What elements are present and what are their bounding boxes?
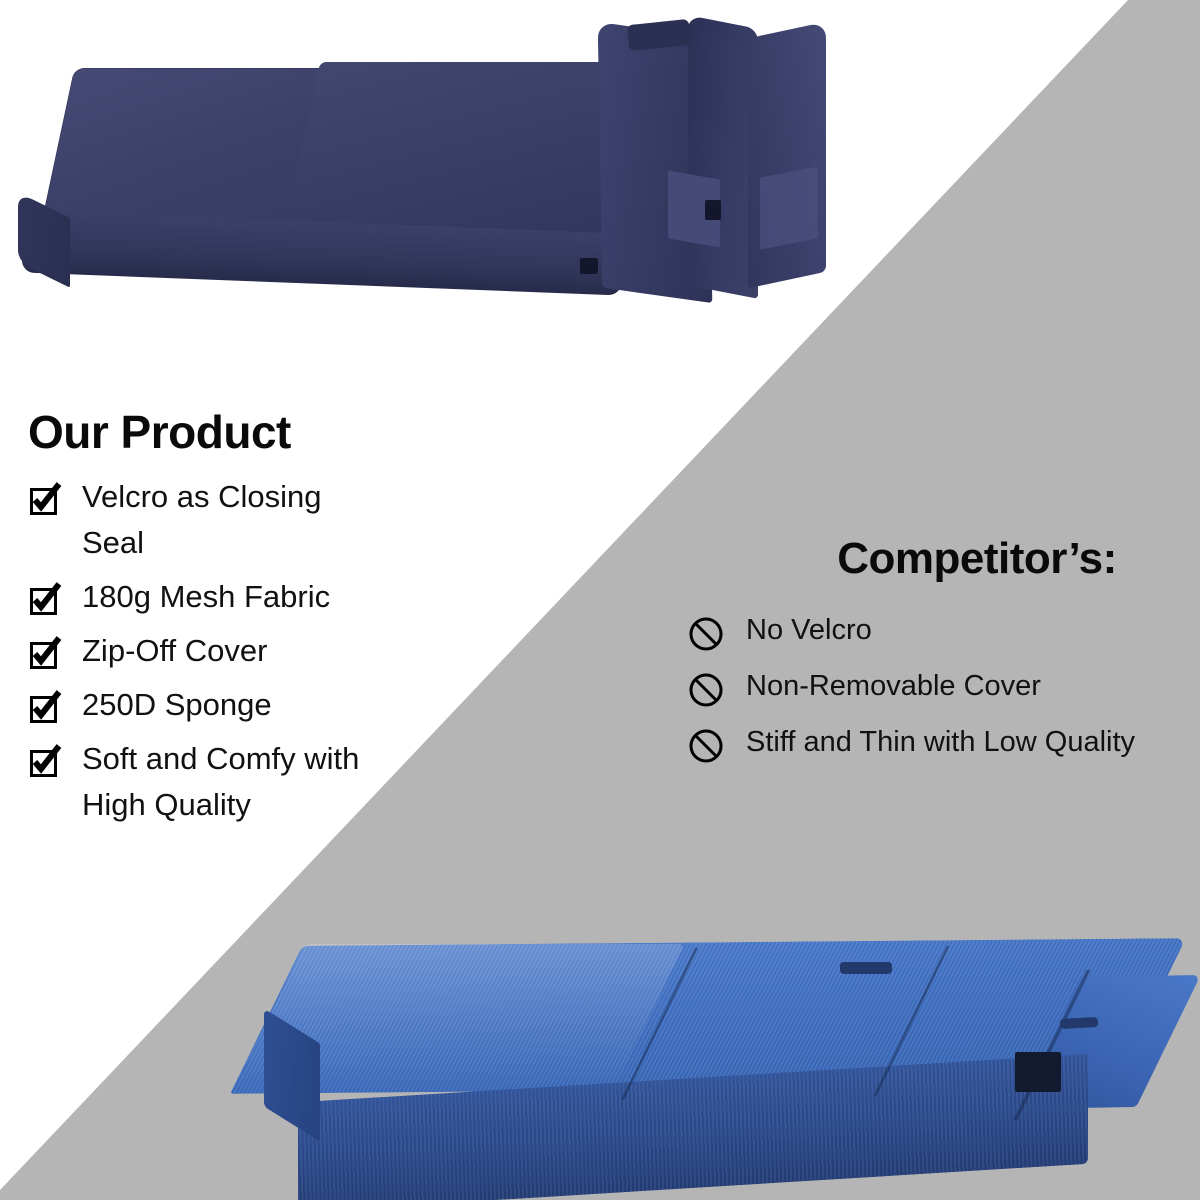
navy-trifold-mattress-photo: [0, 0, 900, 330]
prohibition-icon: [688, 616, 724, 652]
list-item-label: 180g Mesh Fabric: [82, 574, 330, 620]
velcro-patch: [760, 166, 818, 249]
our-product-heading: Our Product: [28, 408, 448, 456]
carry-handle: [840, 962, 892, 974]
checkbox-checked-icon: [28, 744, 62, 778]
list-item-label: 250D Sponge: [82, 682, 272, 728]
list-item: Zip-Off Cover: [28, 628, 448, 674]
checkbox-checked-icon: [28, 636, 62, 670]
our-product-section: Our Product Velcro as Closing Seal: [28, 408, 448, 835]
prohibition-icon: [688, 728, 724, 764]
list-item-label: No Velcro: [746, 608, 872, 652]
checkbox-checked-icon: [28, 582, 62, 616]
prohibition-icon: [688, 672, 724, 708]
list-item-label: Stiff and Thin with Low Quality: [746, 720, 1135, 764]
checkbox-checked-icon: [28, 690, 62, 724]
infographic-canvas: Our Product Velcro as Closing Seal: [0, 0, 1200, 1200]
our-product-feature-list: Velcro as Closing Seal 180g Mesh Fabric: [28, 474, 448, 827]
carry-handle: [1060, 1017, 1098, 1029]
checkbox-checked-icon: [28, 482, 62, 516]
competitors-section: Competitor’s: No Velcro: [688, 536, 1188, 776]
list-item-label: Velcro as Closing Seal: [82, 474, 382, 566]
list-item: Velcro as Closing Seal: [28, 474, 448, 566]
list-item: Stiff and Thin with Low Quality: [688, 720, 1188, 764]
list-item: 250D Sponge: [28, 682, 448, 728]
competitors-heading: Competitor’s:: [688, 536, 1188, 582]
competitors-feature-list: No Velcro Non-Removable Cover: [688, 608, 1188, 764]
list-item: Soft and Comfy with High Quality: [28, 736, 448, 828]
list-item-label: Non-Removable Cover: [746, 664, 1041, 708]
list-item-label: Zip-Off Cover: [82, 628, 267, 674]
brand-label-tag: [705, 200, 721, 220]
list-item: 180g Mesh Fabric: [28, 574, 448, 620]
list-item: Non-Removable Cover: [688, 664, 1188, 708]
list-item-label: Soft and Comfy with High Quality: [82, 736, 382, 828]
list-item: No Velcro: [688, 608, 1188, 652]
brand-label-tag: [1015, 1052, 1061, 1092]
brand-label-tag: [580, 258, 598, 274]
